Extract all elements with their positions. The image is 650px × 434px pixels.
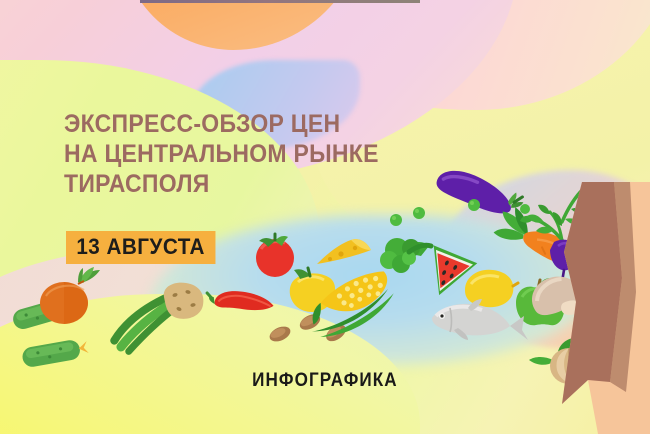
pea-icon-3: [467, 198, 481, 212]
potato-icon: [157, 279, 207, 323]
cucumber-icon-2: [16, 332, 92, 372]
cheese-wedge-icon: [313, 232, 375, 272]
footer-label: Инфографика: [0, 370, 650, 392]
wooden-plank-decoration: [552, 182, 650, 434]
infographic-poster: Экспресс-обзор цен на Центральном рынке …: [0, 0, 650, 434]
title-line-2: на Центральном рынке: [64, 140, 414, 170]
page-title: Экспресс-обзор цен на Центральном рынке …: [64, 110, 414, 199]
pea-icon-2: [412, 206, 426, 220]
title-line-1: Экспресс-обзор цен: [64, 110, 414, 140]
date-badge: 13 августа: [66, 231, 215, 264]
footer-label-text: Инфографика: [252, 370, 398, 392]
title-line-3: Тирасполя: [64, 170, 414, 200]
fish-icon: [424, 294, 528, 348]
pea-icon-1: [389, 213, 403, 227]
pea-icon-4: [519, 203, 531, 215]
